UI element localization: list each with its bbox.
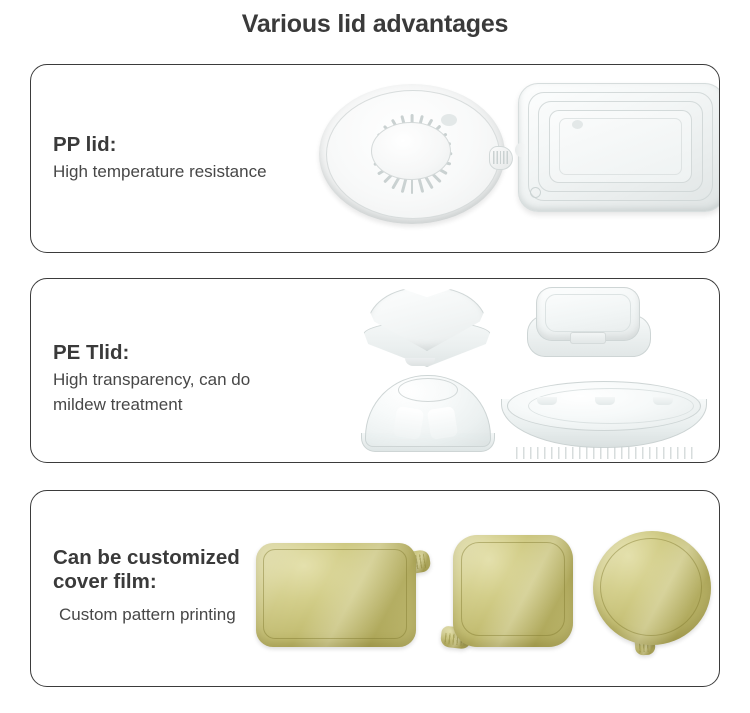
round-lid-inner-rim: [326, 90, 500, 219]
rect-lid-ridge-2: [538, 101, 703, 192]
rect-film-pull-tab: [401, 549, 431, 575]
oval-pe-lid-image: [501, 381, 711, 459]
oval-lid-body: [501, 399, 707, 448]
square-lid-top: [536, 287, 640, 341]
round-lid-outer-rim: [319, 84, 505, 224]
round-gold-cover-film-image: [583, 531, 720, 661]
square-film-pull-tab: [440, 625, 472, 649]
rectangular-gold-cover-film-image: [256, 539, 431, 654]
pp-lid-description: High temperature resistance: [53, 160, 267, 185]
round-film-pull-tab: [634, 634, 655, 655]
card-pp-lid: PP lid: High temperature resistance: [30, 64, 720, 253]
cover-film-description: Custom pattern printing: [53, 603, 240, 628]
heart-lid-top: [367, 287, 487, 351]
rect-lid-vent-dot: [530, 187, 541, 198]
oval-lid-notch-1: [537, 397, 557, 405]
round-lid-pull-tab: [489, 146, 513, 170]
heart-lid-foot: [405, 358, 435, 366]
square-lid-tab: [570, 332, 606, 344]
dome-pe-lid-image: [361, 375, 501, 463]
oval-lid-inner-ring: [528, 388, 694, 424]
round-lid-center-hub: [371, 122, 451, 180]
rect-film-sheen: [256, 543, 416, 647]
rect-lid-body: [518, 83, 720, 212]
dome-lid-top: [365, 375, 491, 447]
dome-lid-facet-left: [393, 406, 424, 440]
oval-lid-ridges: [516, 447, 694, 459]
pe-lid-text-block: PE Tlid: High transparency, can do milde…: [53, 341, 250, 417]
round-film-sheen: [593, 531, 711, 645]
rect-lid-embossed-mark: [572, 120, 583, 129]
rect-lid-ridge-3: [549, 110, 692, 183]
rect-lid-ridge-1: [528, 92, 713, 201]
rect-film-body: [256, 543, 416, 647]
oval-lid-notch-2: [595, 397, 615, 405]
dome-lid-base: [361, 433, 495, 452]
square-film-body: [453, 535, 573, 647]
dome-lid-straw-hole: [398, 378, 458, 402]
round-ribbed-pp-lid-image: [319, 84, 509, 232]
round-lid-rib-face: [335, 97, 489, 210]
square-film-sheen: [453, 535, 573, 647]
rectangular-pp-lid-image: [518, 83, 720, 218]
round-lid-embossed-mark: [441, 114, 457, 126]
cover-film-text-block: Can be customized cover film: Custom pat…: [53, 546, 240, 628]
cover-film-heading: Can be customized cover film:: [53, 546, 240, 594]
square-pe-lid-image: [526, 283, 661, 371]
rect-lid-side-notch: [515, 143, 527, 157]
square-gold-cover-film-image: [441, 535, 601, 660]
pe-lid-description: High transparency, can do mildew treatme…: [53, 368, 250, 417]
rect-lid-ridge-4: [559, 118, 682, 175]
round-film-body: [593, 531, 711, 645]
card-cover-film: Can be customized cover film: Custom pat…: [30, 490, 720, 687]
heart-shaped-pe-lid-image: [361, 287, 496, 375]
dome-lid-facet-right: [427, 406, 458, 440]
pp-lid-text-block: PP lid: High temperature resistance: [53, 133, 267, 185]
pp-lid-heading: PP lid:: [53, 133, 267, 157]
square-film-tab-sheen: [440, 625, 472, 649]
card-pe-lid: PE Tlid: High transparency, can do milde…: [30, 278, 720, 463]
oval-lid-notch-3: [653, 397, 673, 405]
square-lid-base: [527, 315, 651, 357]
oval-lid-top: [507, 381, 701, 431]
page-title: Various lid advantages: [0, 10, 750, 39]
rect-film-tab-sheen: [401, 549, 431, 575]
pe-lid-heading: PE Tlid:: [53, 341, 250, 365]
round-film-tab-sheen: [634, 634, 655, 655]
heart-lid-base: [363, 321, 491, 367]
